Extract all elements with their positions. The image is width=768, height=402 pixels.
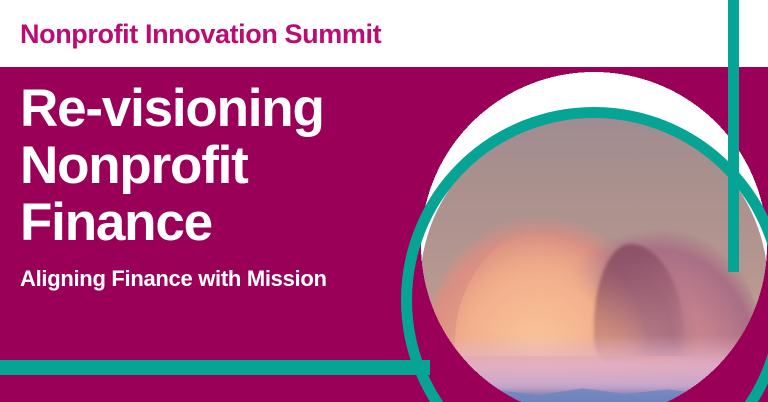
- subtitle: Aligning Finance with Mission: [20, 266, 410, 292]
- headline-block: Re-visioning Nonprofit Finance Aligning …: [20, 80, 410, 292]
- page-title: Re-visioning Nonprofit Finance: [20, 80, 410, 252]
- headline-line-1: Re-visioning: [20, 80, 410, 137]
- headline-line-3: Finance: [20, 194, 410, 251]
- event-promo-banner: Nonprofit Innovation Summit Re-visioning…: [0, 0, 768, 402]
- teal-horizontal-rule: [0, 360, 430, 375]
- headline-line-2: Nonprofit: [20, 137, 410, 194]
- event-name-eyebrow: Nonprofit Innovation Summit: [20, 21, 381, 48]
